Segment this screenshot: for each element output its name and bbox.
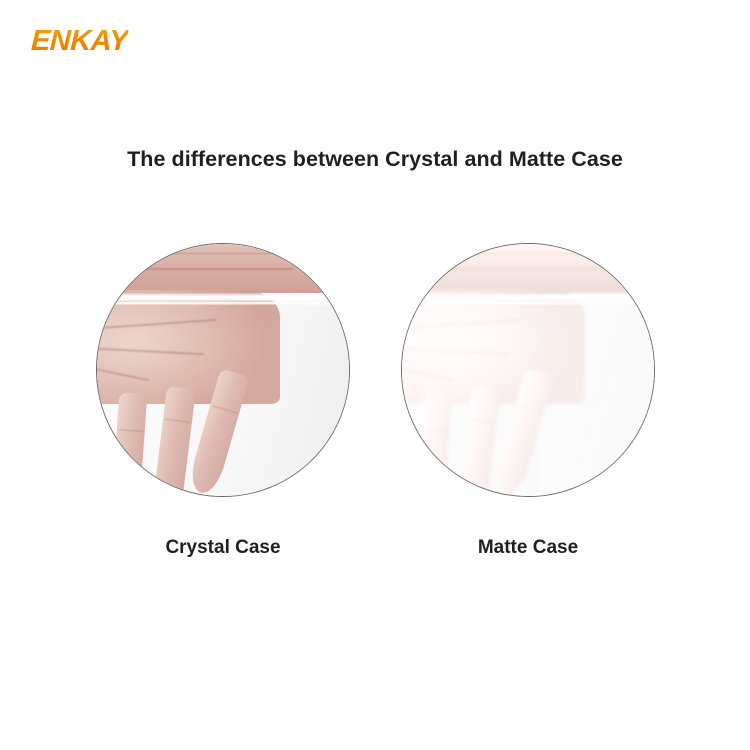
case-edge-highlight [401, 293, 655, 302]
crystal-case-photo [96, 243, 350, 497]
comparison-stage [0, 243, 750, 503]
case-surface-overlay [96, 299, 350, 497]
page-title: The differences between Crystal and Matt… [0, 147, 750, 172]
caption-matte-case: Matte Case [401, 537, 655, 559]
matte-case-photo [401, 243, 655, 497]
comparison-item-crystal [96, 243, 350, 497]
comparison-item-matte [401, 243, 655, 497]
case-surface-overlay [401, 299, 655, 497]
crystal-scene [96, 243, 350, 497]
matte-scene [401, 243, 655, 497]
brand-logo: ENKAY [30, 27, 128, 56]
wrist [401, 243, 650, 293]
caption-crystal-case: Crystal Case [96, 537, 350, 559]
wrist [96, 243, 345, 293]
case-edge-highlight [96, 293, 350, 302]
